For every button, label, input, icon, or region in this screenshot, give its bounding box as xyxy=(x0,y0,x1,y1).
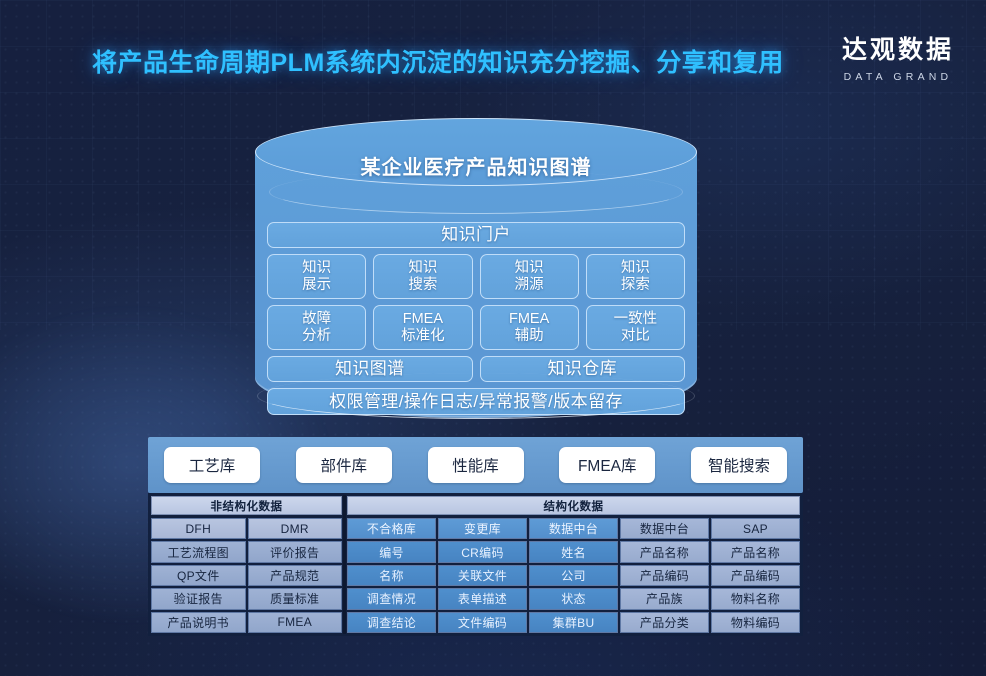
table-cell: 产品名称 xyxy=(711,541,800,562)
table-cell: DMR xyxy=(248,518,343,539)
table-cell: 关联文件 xyxy=(438,565,527,586)
table-cell: 评价报告 xyxy=(248,541,343,562)
table-cell: 产品编码 xyxy=(620,565,709,586)
module-cell[interactable]: FMEA标准化 xyxy=(373,305,472,350)
library-chip[interactable]: 智能搜索 xyxy=(691,447,787,483)
module-cell[interactable]: 知识图谱 xyxy=(267,356,473,382)
table-cell: SAP xyxy=(711,518,800,539)
cylinder-title: 某企业医疗产品知识图谱 xyxy=(255,151,697,180)
module-row: 知识门户 xyxy=(267,222,685,248)
table-group-header: 结构化数据 xyxy=(347,496,800,515)
page-title: 将产品生命周期PLM系统内沉淀的知识充分挖掘、分享和复用 xyxy=(92,43,784,79)
library-chip[interactable]: FMEA库 xyxy=(559,447,655,483)
table-cell: 产品族 xyxy=(620,588,709,609)
table-row: 产品说明书FMEA xyxy=(150,611,343,634)
structured-data-group: 结构化数据不合格库变更库数据中台数据中台SAP编号CR编码姓名产品名称产品名称名… xyxy=(346,495,801,634)
table-cell: 状态 xyxy=(529,588,618,609)
module-cell[interactable]: 知识门户 xyxy=(267,222,685,248)
table-cell: 调查结论 xyxy=(347,612,436,633)
library-chip-panel: 工艺库部件库性能库FMEA库智能搜索 xyxy=(148,437,803,493)
module-cell[interactable]: 知识溯源 xyxy=(480,254,579,299)
table-cell: 产品分类 xyxy=(620,612,709,633)
slide-header: 将产品生命周期PLM系统内沉淀的知识充分挖掘、分享和复用 达观数据 DATA G… xyxy=(0,0,986,106)
table-cell: 工艺流程图 xyxy=(151,541,246,562)
table-cell: 集群BU xyxy=(529,612,618,633)
table-cell: 数据中台 xyxy=(620,518,709,539)
table-cell: 产品编码 xyxy=(711,565,800,586)
logo-english-name: DATA GRAND xyxy=(842,71,954,83)
table-cell: 表单描述 xyxy=(438,588,527,609)
library-chip[interactable]: 工艺库 xyxy=(164,447,260,483)
table-cell: 验证报告 xyxy=(151,588,246,609)
module-row: 权限管理/操作日志/异常报警/版本留存 xyxy=(267,388,685,415)
table-row: QP文件产品规范 xyxy=(150,564,343,587)
table-row: 名称关联文件公司产品编码产品编码 xyxy=(346,564,801,587)
table-row: 工艺流程图评价报告 xyxy=(150,540,343,563)
module-row: 知识展示知识搜索知识溯源知识探索 xyxy=(267,254,685,299)
table-cell: 文件编码 xyxy=(438,612,527,633)
module-row: 故障分析FMEA标准化FMEA辅助一致性对比 xyxy=(267,305,685,350)
table-cell: DFH xyxy=(151,518,246,539)
module-cell[interactable]: 知识搜索 xyxy=(373,254,472,299)
module-cell[interactable]: 一致性对比 xyxy=(586,305,685,350)
table-row: 不合格库变更库数据中台数据中台SAP xyxy=(346,517,801,540)
table-cell: 不合格库 xyxy=(347,518,436,539)
logo-chinese-name: 达观数据 xyxy=(842,30,954,66)
library-chip[interactable]: 部件库 xyxy=(296,447,392,483)
module-cell[interactable]: 知识仓库 xyxy=(480,356,686,382)
table-cell: 质量标准 xyxy=(248,588,343,609)
module-row: 知识图谱知识仓库 xyxy=(267,356,685,382)
table-cell: 变更库 xyxy=(438,518,527,539)
module-cell[interactable]: 故障分析 xyxy=(267,305,366,350)
knowledge-graph-cylinder: 某企业医疗产品知识图谱 知识门户知识展示知识搜索知识溯源知识探索故障分析FMEA… xyxy=(255,118,697,418)
table-row: DFHDMR xyxy=(150,517,343,540)
library-chip[interactable]: 性能库 xyxy=(428,447,524,483)
table-row: 调查结论文件编码集群BU产品分类物料编码 xyxy=(346,611,801,634)
table-cell: 产品规范 xyxy=(248,565,343,586)
module-cell[interactable]: 知识探索 xyxy=(586,254,685,299)
module-cell[interactable]: 知识展示 xyxy=(267,254,366,299)
table-cell: 数据中台 xyxy=(529,518,618,539)
table-row: 调查情况表单描述状态产品族物料名称 xyxy=(346,587,801,610)
table-cell: 产品说明书 xyxy=(151,612,246,633)
table-cell: 名称 xyxy=(347,565,436,586)
table-row: 验证报告质量标准 xyxy=(150,587,343,610)
data-source-table: 非结构化数据DFHDMR工艺流程图评价报告QP文件产品规范验证报告质量标准产品说… xyxy=(148,493,803,636)
unstructured-data-group: 非结构化数据DFHDMR工艺流程图评价报告QP文件产品规范验证报告质量标准产品说… xyxy=(150,495,346,634)
table-cell: 编号 xyxy=(347,541,436,562)
table-cell: CR编码 xyxy=(438,541,527,562)
table-cell: 调查情况 xyxy=(347,588,436,609)
cylinder-module-grid: 知识门户知识展示知识搜索知识溯源知识探索故障分析FMEA标准化FMEA辅助一致性… xyxy=(267,222,685,421)
table-cell: FMEA xyxy=(248,612,343,633)
table-cell: QP文件 xyxy=(151,565,246,586)
table-cell: 物料编码 xyxy=(711,612,800,633)
table-cell: 公司 xyxy=(529,565,618,586)
module-cell[interactable]: 权限管理/操作日志/异常报警/版本留存 xyxy=(267,388,685,415)
table-cell: 产品名称 xyxy=(620,541,709,562)
table-cell: 姓名 xyxy=(529,541,618,562)
table-group-header: 非结构化数据 xyxy=(151,496,342,515)
brand-logo: 达观数据 DATA GRAND xyxy=(842,30,954,83)
module-cell[interactable]: FMEA辅助 xyxy=(480,305,579,350)
table-row: 编号CR编码姓名产品名称产品名称 xyxy=(346,540,801,563)
table-cell: 物料名称 xyxy=(711,588,800,609)
